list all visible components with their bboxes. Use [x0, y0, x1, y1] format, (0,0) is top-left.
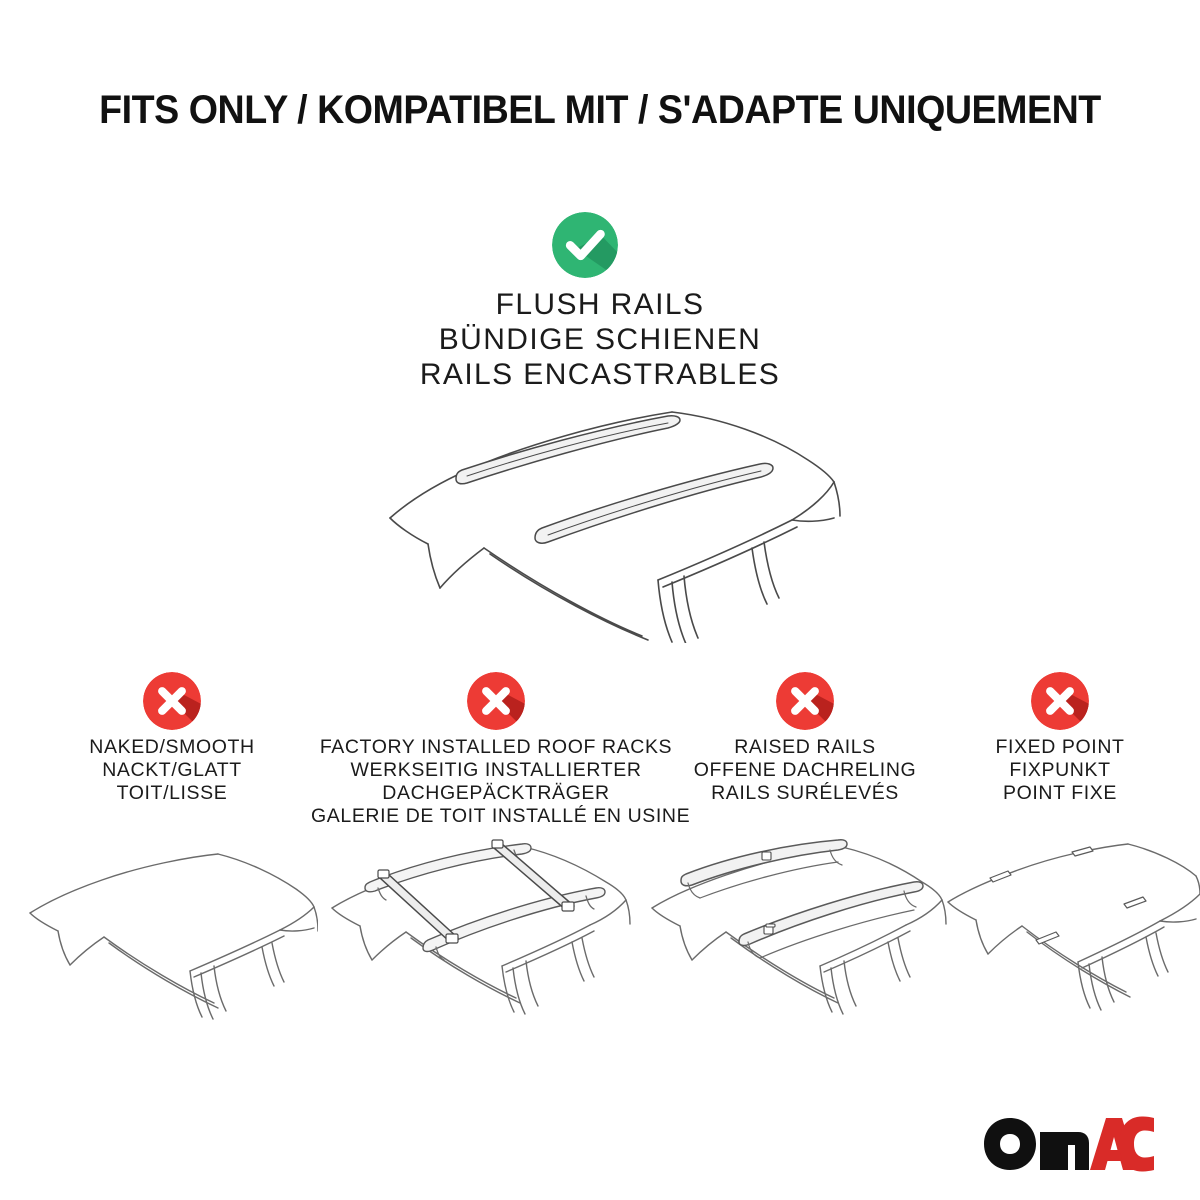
- compatible-caption-line-1: FLUSH RAILS: [0, 287, 1200, 322]
- caption-line-2: WERKSEITIG INSTALLIERTER: [311, 759, 681, 782]
- car-roof-raised-rails-illustration: [638, 830, 958, 1045]
- caption-line-4: GALERIE DE TOIT INSTALLÉ EN USINE: [311, 805, 681, 828]
- caption-line-1: NAKED/SMOOTH: [47, 736, 297, 759]
- car-roof-naked-illustration: [18, 845, 318, 1045]
- caption-line-2: OFFENE DACHRELING: [680, 759, 930, 782]
- x-circle-icon: [143, 672, 201, 730]
- caption-line-1: FACTORY INSTALLED ROOF RACKS: [311, 736, 681, 759]
- caption-line-2: FIXPUNKT: [935, 759, 1185, 782]
- incompatible-caption: FIXED POINT FIXPUNKT POINT FIXE: [935, 736, 1185, 805]
- car-roof-flush-rails-illustration: [372, 398, 842, 643]
- page-title: FITS ONLY / KOMPATIBEL MIT / S'ADAPTE UN…: [36, 88, 1164, 133]
- x-circle-icon: [1031, 672, 1089, 730]
- incompatible-caption: FACTORY INSTALLED ROOF RACKS WERKSEITIG …: [311, 736, 681, 828]
- x-circle-icon: [467, 672, 525, 730]
- caption-line-3: POINT FIXE: [935, 782, 1185, 805]
- car-roof-factory-racks-illustration: [318, 830, 648, 1045]
- caption-line-3: RAILS SURÉLEVÉS: [680, 782, 930, 805]
- compatible-caption-line-2: BÜNDIGE SCHIENEN: [0, 322, 1200, 357]
- caption-line-2: NACKT/GLATT: [47, 759, 297, 782]
- check-circle-icon: [552, 212, 618, 278]
- compatibility-infographic: FITS ONLY / KOMPATIBEL MIT / S'ADAPTE UN…: [0, 0, 1200, 1200]
- compatible-caption: FLUSH RAILS BÜNDIGE SCHIENEN RAILS ENCAS…: [0, 287, 1200, 392]
- car-roof-fixed-point-illustration: [938, 836, 1200, 1041]
- caption-line-3: TOIT/LISSE: [47, 782, 297, 805]
- omac-logo: [982, 1116, 1156, 1172]
- compatible-caption-line-3: RAILS ENCASTRABLES: [0, 357, 1200, 392]
- incompatible-caption: RAISED RAILS OFFENE DACHRELING RAILS SUR…: [680, 736, 930, 805]
- x-circle-icon: [776, 672, 834, 730]
- caption-line-1: RAISED RAILS: [680, 736, 930, 759]
- caption-line-3: DACHGEPÄCKTRÄGER: [311, 782, 681, 805]
- caption-line-1: FIXED POINT: [935, 736, 1185, 759]
- incompatible-caption: NAKED/SMOOTH NACKT/GLATT TOIT/LISSE: [47, 736, 297, 805]
